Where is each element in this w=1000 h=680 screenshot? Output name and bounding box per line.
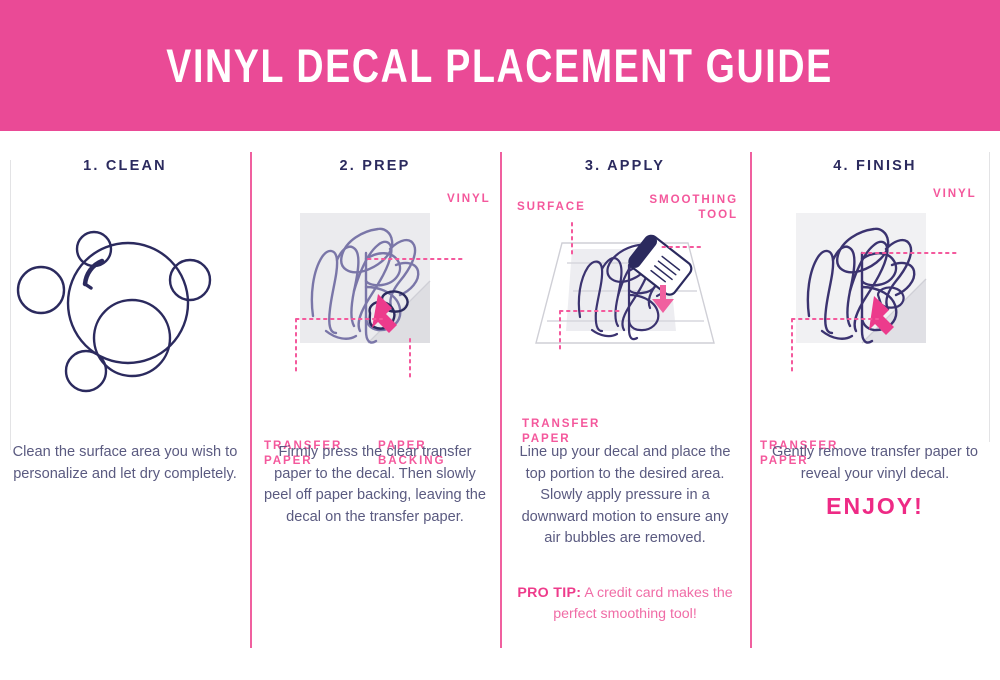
pro-tip: PRO TIP: A credit card makes the perfect… — [514, 583, 736, 625]
step-column-prep: 2. PREP — [250, 131, 500, 680]
step-body-clean: Clean the surface area you wish to perso… — [12, 442, 238, 485]
steps-container: 1. CLEAN Clean the surface area you wish… — [0, 131, 1000, 680]
step-title-finish: 4. FINISH — [750, 158, 1000, 174]
callout-vinyl-finish: VINYL — [933, 186, 977, 201]
step-title-clean: 1. CLEAN — [0, 158, 250, 174]
illustration-clean — [0, 191, 250, 421]
bubbles-icon — [0, 191, 250, 421]
step-body-apply: Line up your decal and place the top por… — [512, 442, 738, 550]
step-column-finish: 4. FINISH — [750, 131, 1000, 680]
pro-tip-lead: PRO TIP: — [517, 585, 581, 601]
step-title-prep: 2. PREP — [250, 158, 500, 174]
callout-lines-prep — [250, 191, 500, 421]
enjoy-text: ENJOY! — [762, 493, 988, 520]
step-column-clean: 1. CLEAN Clean the surface area you wish… — [0, 131, 250, 680]
header-banner: VINYL DECAL PLACEMENT GUIDE — [0, 0, 1000, 131]
callout-lines-finish — [750, 191, 1000, 421]
pro-tip-text: A credit card makes the perfect smoothin… — [553, 585, 732, 622]
callout-surface-apply: SURFACE — [517, 199, 586, 214]
callout-smoothing-tool-apply: SMOOTHING TOOL — [649, 192, 738, 222]
callout-lines-apply — [500, 191, 750, 421]
step-body-prep: Firmly press the clear transfer paper to… — [262, 442, 488, 528]
step-title-apply: 3. APPLY — [500, 158, 750, 174]
step-column-apply: 3. APPLY — [500, 131, 750, 680]
callout-vinyl-prep: VINYL — [447, 191, 491, 206]
step-body-finish: Gently remove transfer paper to reveal y… — [762, 442, 988, 485]
page-title: VINYL DECAL PLACEMENT GUIDE — [167, 42, 833, 89]
